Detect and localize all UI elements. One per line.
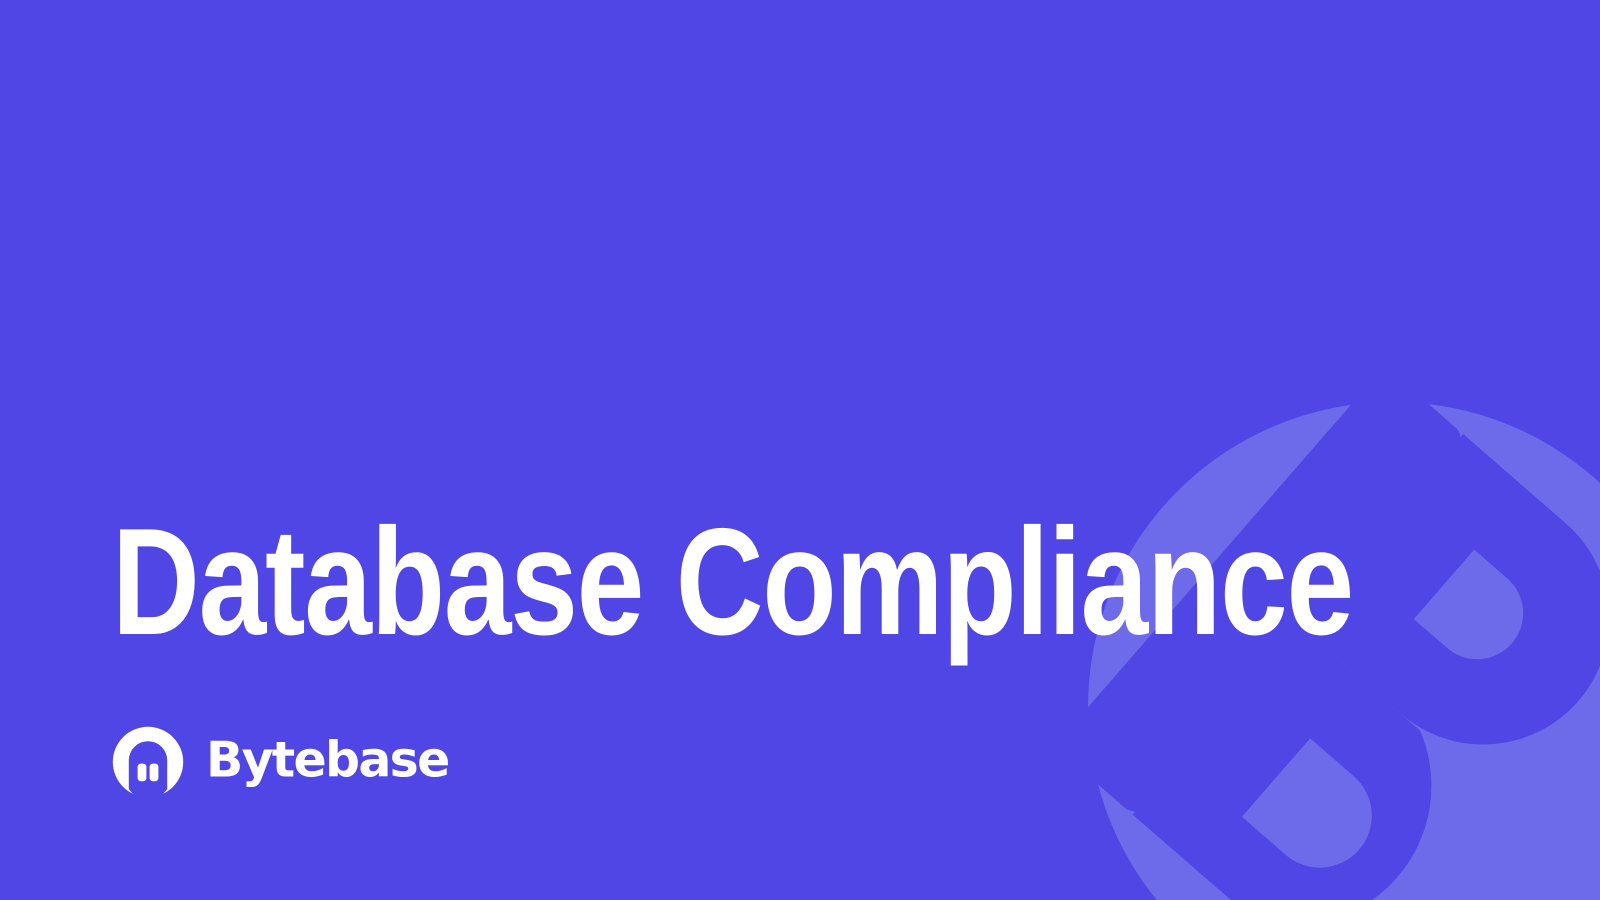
wordmark-text: Bytebase [206,735,449,788]
bytebase-wordmark: Bytebase [206,735,459,789]
cover-canvas: Database Compliance for LGPD: Implicatio… [0,0,1600,900]
brand-logo-lockup: Bytebase [108,722,459,802]
title-line-1: Database Compliance [112,508,1168,657]
bytebase-logo-icon [108,722,188,802]
